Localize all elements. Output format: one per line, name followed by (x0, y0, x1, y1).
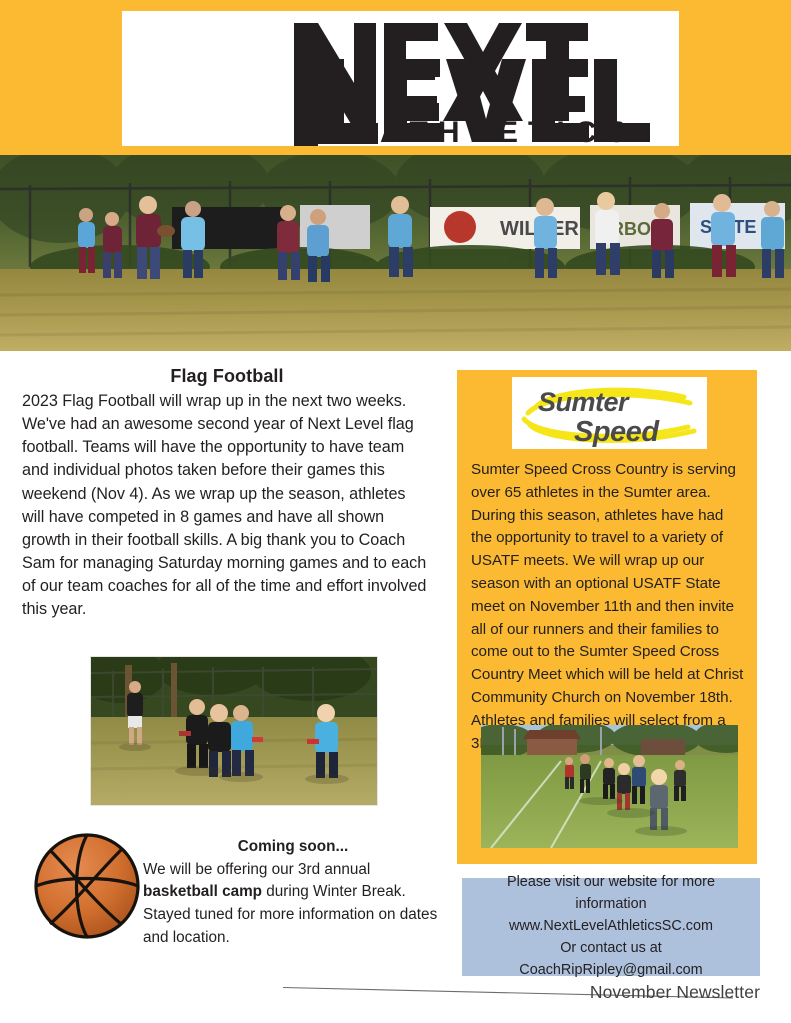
basketball-camp-text: Coming soon...We will be offering our 3r… (143, 836, 443, 949)
sumter-speed-panel: Sumter Speed Sumter Speed Cross Country … (457, 370, 757, 864)
basketball-camp-highlight: basketball camp (143, 883, 262, 900)
basketball-text-before: We will be offering our 3rd annual (143, 861, 370, 878)
coming-soon-heading: Coming soon... (143, 836, 443, 859)
svg-text:Sumter: Sumter (538, 387, 630, 417)
svg-text:Speed: Speed (574, 416, 660, 448)
cross-country-photo (481, 725, 738, 848)
basketball-camp-block: Coming soon...We will be offering our 3r… (33, 828, 443, 948)
contact-line-1: Please visit our website for more (507, 872, 715, 894)
banner-photo: WILDER ARBOR STATE (0, 155, 791, 351)
contact-line-4: Or contact us at (507, 938, 715, 960)
sumter-speed-logo-box: Sumter Speed (512, 377, 707, 449)
contact-box: Please visit our website for more inform… (462, 878, 760, 976)
flag-football-photo (90, 656, 378, 806)
basketball-icon (33, 832, 141, 940)
contact-email[interactable]: CoachRipRipley@gmail.com (507, 960, 715, 982)
footer-label: November Newsletter (590, 982, 760, 1003)
sumter-speed-logo: Sumter Speed (512, 377, 707, 449)
header-band: ATHLETICS (0, 0, 791, 155)
contact-lines: Please visit our website for more inform… (507, 872, 715, 981)
flag-football-body: 2023 Flag Football will wrap up in the n… (22, 390, 432, 622)
svg-text:ATHLETICS: ATHLETICS (380, 116, 626, 146)
contact-line-2: information (507, 894, 715, 916)
flag-football-section: Flag Football 2023 Flag Football will wr… (22, 366, 432, 622)
sumter-speed-body: Sumter Speed Cross Country is serving ov… (471, 459, 748, 755)
flag-football-title: Flag Football (22, 366, 432, 387)
next-level-athletics-logo: ATHLETICS (122, 11, 679, 146)
logo-box: ATHLETICS (122, 11, 679, 146)
website-url[interactable]: www.NextLevelAthleticsSC.com (507, 916, 715, 938)
